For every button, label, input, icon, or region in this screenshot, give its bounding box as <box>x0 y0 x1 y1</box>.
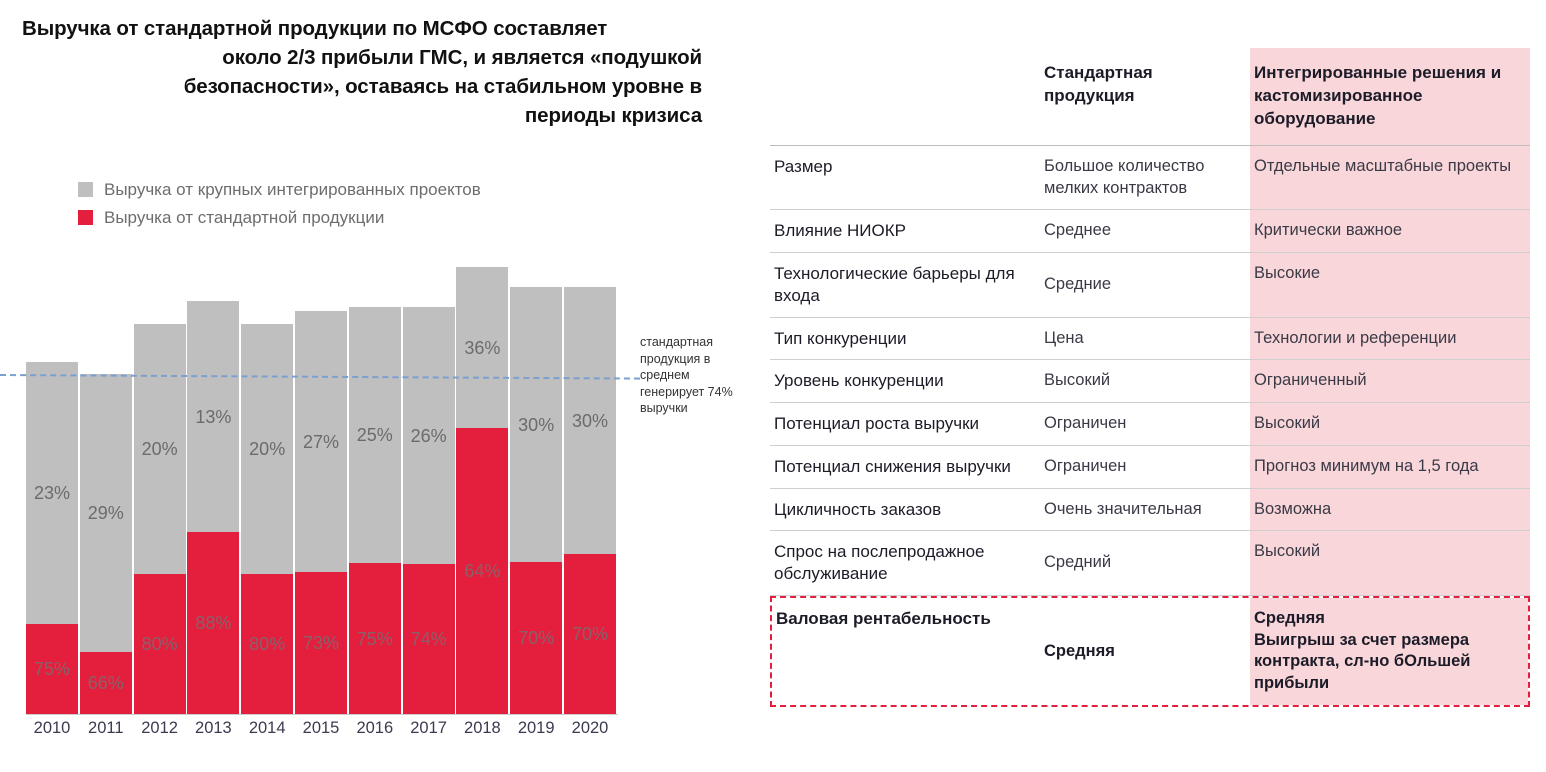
page-title-line: периоды кризиса <box>22 101 702 130</box>
bar-segment-integrated[interactable]: 20% <box>241 324 293 574</box>
page-title-line: безопасности», оставаясь на стабильном у… <box>22 72 702 101</box>
table-cell-value: Среднее <box>1044 220 1111 242</box>
bar-segment-standard[interactable]: 74% <box>403 564 455 714</box>
bar-segment-value: 70% <box>572 625 608 643</box>
bar-column[interactable]: 29%66% <box>80 374 132 714</box>
table-row-label: Размер <box>774 156 1032 178</box>
bar-segment-value: 73% <box>303 634 339 652</box>
chart-plot-area: 23%75%29%66%20%80%13%88%20%80%27%73%25%7… <box>26 252 616 714</box>
bar-segment-standard[interactable]: 66% <box>80 652 132 714</box>
table-cell-integrated: Отдельные масштабные проекты <box>1250 146 1530 210</box>
bar-segment-value: 36% <box>464 339 500 357</box>
table-header-text: Интегрированные решения и кастомизирован… <box>1254 62 1522 131</box>
table-cell-value: Средние <box>1044 274 1111 296</box>
table-cell-integrated: Высокие <box>1250 253 1530 317</box>
legend-item-label: Выручка от крупных интегрированных проек… <box>104 181 481 198</box>
revenue-stacked-bar-chart: 23%75%29%66%20%80%13%88%20%80%27%73%25%7… <box>0 252 640 752</box>
bar-segment-integrated[interactable]: 26% <box>403 307 455 564</box>
table-cell-integrated: Технологии и референции <box>1250 318 1530 360</box>
table-cell-integrated: Высокий <box>1250 531 1530 595</box>
table-cell-value: Высокий <box>1044 370 1110 392</box>
table-cell-value: Возможна <box>1254 499 1522 521</box>
bar-segment-integrated[interactable]: 20% <box>134 324 186 574</box>
table-row-label: Потенциал снижения выручки <box>774 456 1032 478</box>
table-cell-value: Средняя Выигрыш за счет размера контракт… <box>1254 608 1520 695</box>
bar-segment-standard[interactable]: 64% <box>456 428 508 714</box>
table-cell-attribute: Тип конкуренции <box>770 318 1040 360</box>
x-axis-tick: 2020 <box>564 720 616 737</box>
table-cell-standard: Ограничен <box>1040 403 1250 445</box>
page-title: Выручка от стандартной продукции по МСФО… <box>22 14 702 130</box>
table-cell-integrated: Возможна <box>1250 489 1530 531</box>
bar-segment-standard[interactable]: 75% <box>349 563 401 714</box>
table-header-text: Стандартная продукция <box>1044 62 1242 108</box>
x-axis-line <box>26 714 618 715</box>
x-axis-tick: 2010 <box>26 720 78 737</box>
bar-segment-integrated[interactable]: 36% <box>456 267 508 428</box>
x-axis-tick: 2017 <box>403 720 455 737</box>
table-row-label: Валовая рентабельность <box>776 608 1032 630</box>
table-cell-standard: Средняя <box>1040 598 1250 705</box>
table-cell-standard: Ограничен <box>1040 446 1250 488</box>
table-cell-standard: Среднее <box>1040 210 1250 252</box>
bar-segment-standard[interactable]: 80% <box>241 574 293 714</box>
bar-segment-value: 29% <box>88 504 124 522</box>
table-row-label: Цикличность заказов <box>774 499 1032 521</box>
page-title-line: около 2/3 прибыли ГМС, и является «подуш… <box>22 43 702 72</box>
bar-column[interactable]: 26%74% <box>403 307 455 714</box>
x-axis-tick-labels: 2010201120122013201420152016201720182019… <box>26 720 616 750</box>
table-cell-value: Высокий <box>1254 541 1522 563</box>
table-cell-attribute: Потенциал роста выручки <box>770 403 1040 445</box>
table-row[interactable]: Потенциал снижения выручкиОграниченПрогн… <box>770 446 1530 489</box>
bar-segment-integrated[interactable]: 30% <box>564 287 616 554</box>
legend-item-label: Выручка от стандартной продукции <box>104 209 384 226</box>
table-cell-value: Отдельные масштабные проекты <box>1254 156 1522 178</box>
bar-segment-value: 88% <box>195 614 231 632</box>
table-cell-attribute: Потенциал снижения выручки <box>770 446 1040 488</box>
table-row[interactable]: Валовая рентабельностьСредняяСредняя Выи… <box>770 596 1530 707</box>
legend-swatch-icon <box>78 210 93 225</box>
table-cell-value: Очень значительная <box>1044 499 1202 521</box>
table-cell-value: Технологии и референции <box>1254 328 1522 350</box>
table-header-row: Стандартная продукцияИнтегрированные реш… <box>770 48 1530 146</box>
x-axis-tick: 2011 <box>80 720 132 737</box>
table-cell-standard: Большое количество мелких контрактов <box>1040 146 1250 210</box>
x-axis-tick: 2014 <box>241 720 293 737</box>
bar-segment-integrated[interactable]: 25% <box>349 307 401 563</box>
x-axis-tick: 2015 <box>295 720 347 737</box>
table-cell-value: Критически важное <box>1254 220 1522 242</box>
average-annotation-text: стандартная продукция в среднем генериру… <box>640 334 744 417</box>
table-cell-attribute: Влияние НИОКР <box>770 210 1040 252</box>
bar-segment-value: 80% <box>249 635 285 653</box>
table-row[interactable]: Цикличность заказовОчень значительнаяВоз… <box>770 489 1530 532</box>
bar-column[interactable]: 30%70% <box>510 287 562 714</box>
table-row[interactable]: Потенциал роста выручкиОграниченВысокий <box>770 403 1530 446</box>
bar-segment-value: 30% <box>518 416 554 434</box>
bar-column[interactable]: 36%64% <box>456 267 508 714</box>
bar-column[interactable]: 27%73% <box>295 311 347 714</box>
table-row-label: Технологические барьеры для входа <box>774 263 1032 307</box>
table-cell-standard: Очень значительная <box>1040 489 1250 531</box>
legend-item[interactable]: Выручка от стандартной продукции <box>78 209 481 226</box>
bar-segment-value: 66% <box>88 674 124 692</box>
table-cell-value: Высокие <box>1254 263 1522 285</box>
bar-segment-integrated[interactable]: 30% <box>510 287 562 562</box>
table-cell-integrated: Прогноз минимум на 1,5 года <box>1250 446 1530 488</box>
bar-segment-standard[interactable]: 70% <box>510 562 562 714</box>
table-row[interactable]: РазмерБольшое количество мелких контракт… <box>770 146 1530 211</box>
table-cell-integrated: Средняя Выигрыш за счет размера контракт… <box>1250 598 1528 705</box>
table-cell-standard: Цена <box>1040 318 1250 360</box>
table-row[interactable]: Технологические барьеры для входаСредние… <box>770 253 1530 318</box>
table-cell-value: Средняя <box>1044 641 1115 663</box>
table-row[interactable]: Тип конкуренцииЦенаТехнологии и референц… <box>770 318 1530 361</box>
table-header-cell-standard: Стандартная продукция <box>1040 48 1250 145</box>
table-cell-standard: Средние <box>1040 253 1250 317</box>
table-row-label: Влияние НИОКР <box>774 220 1032 242</box>
table-row-label: Уровень конкуренции <box>774 370 1032 392</box>
table-row[interactable]: Влияние НИОКРСреднееКритически важное <box>770 210 1530 253</box>
table-header-cell-attribute <box>770 48 1040 145</box>
table-row[interactable]: Спрос на послепродажное обслуживаниеСред… <box>770 531 1530 596</box>
table-cell-value: Ограничен <box>1044 456 1126 478</box>
table-cell-attribute: Валовая рентабельность <box>772 598 1040 705</box>
bar-segment-value: 26% <box>411 427 447 445</box>
table-cell-value: Ограничен <box>1044 413 1126 435</box>
bar-segment-value: 20% <box>142 440 178 458</box>
bar-segment-value: 75% <box>357 630 393 648</box>
bar-segment-integrated[interactable]: 23% <box>26 362 78 624</box>
x-axis-tick: 2012 <box>134 720 186 737</box>
table-cell-value: Большое количество мелких контрактов <box>1044 156 1242 200</box>
bar-segment-value: 80% <box>142 635 178 653</box>
legend-swatch-icon <box>78 182 93 197</box>
bar-segment-value: 13% <box>195 408 231 426</box>
table-row[interactable]: Уровень конкуренцииВысокийОграниченный <box>770 360 1530 403</box>
bar-segment-value: 74% <box>411 630 447 648</box>
bar-segment-value: 23% <box>34 484 70 502</box>
table-cell-value: Ограниченный <box>1254 370 1522 392</box>
bar-segment-value: 30% <box>572 412 608 430</box>
table-cell-value: Цена <box>1044 328 1084 350</box>
bar-segment-integrated[interactable]: 29% <box>80 374 132 652</box>
bar-segment-value: 25% <box>357 426 393 444</box>
bar-segment-value: 27% <box>303 433 339 451</box>
bar-segment-integrated[interactable]: 27% <box>295 311 347 572</box>
slide-root: Выручка от стандартной продукции по МСФО… <box>0 0 1546 772</box>
bar-column[interactable]: 13%88% <box>187 301 239 714</box>
table-cell-value: Прогноз минимум на 1,5 года <box>1254 456 1522 478</box>
x-axis-tick: 2019 <box>510 720 562 737</box>
table-row-label: Тип конкуренции <box>774 328 1032 350</box>
x-axis-tick: 2016 <box>349 720 401 737</box>
legend-item[interactable]: Выручка от крупных интегрированных проек… <box>78 181 481 198</box>
bar-segment-standard[interactable]: 73% <box>295 572 347 714</box>
table-cell-attribute: Спрос на послепродажное обслуживание <box>770 531 1040 595</box>
chart-legend: Выручка от крупных интегрированных проек… <box>78 181 481 237</box>
bar-segment-value: 20% <box>249 440 285 458</box>
table-cell-value: Высокий <box>1254 413 1522 435</box>
table-cell-value: Средний <box>1044 552 1111 574</box>
bar-segment-value: 64% <box>464 562 500 580</box>
table-row-label: Потенциал роста выручки <box>774 413 1032 435</box>
table-cell-integrated: Критически важное <box>1250 210 1530 252</box>
bar-segment-standard[interactable]: 70% <box>564 554 616 714</box>
x-axis-tick: 2013 <box>187 720 239 737</box>
bar-segment-value: 70% <box>518 629 554 647</box>
table-cell-attribute: Технологические барьеры для входа <box>770 253 1040 317</box>
bar-segment-standard[interactable]: 75% <box>26 624 78 714</box>
table-cell-attribute: Уровень конкуренции <box>770 360 1040 402</box>
table-cell-integrated: Высокий <box>1250 403 1530 445</box>
bar-column[interactable]: 23%75% <box>26 362 78 714</box>
table-cell-integrated: Ограниченный <box>1250 360 1530 402</box>
table-cell-standard: Средний <box>1040 531 1250 595</box>
table-cell-standard: Высокий <box>1040 360 1250 402</box>
table-row-label: Спрос на послепродажное обслуживание <box>774 541 1032 585</box>
page-title-line: Выручка от стандартной продукции по МСФО… <box>22 14 702 43</box>
bar-segment-standard[interactable]: 80% <box>134 574 186 714</box>
table-cell-attribute: Цикличность заказов <box>770 489 1040 531</box>
table-cell-attribute: Размер <box>770 146 1040 210</box>
bar-segment-value: 75% <box>34 660 70 678</box>
bar-column[interactable]: 25%75% <box>349 307 401 714</box>
x-axis-tick: 2018 <box>456 720 508 737</box>
bar-column[interactable]: 20%80% <box>241 324 293 714</box>
bar-column[interactable]: 30%70% <box>564 287 616 714</box>
bar-segment-standard[interactable]: 88% <box>187 532 239 714</box>
comparison-table: Стандартная продукцияИнтегрированные реш… <box>770 48 1530 707</box>
bar-segment-integrated[interactable]: 13% <box>187 301 239 532</box>
bar-column[interactable]: 20%80% <box>134 324 186 714</box>
table-header-cell-integrated: Интегрированные решения и кастомизирован… <box>1250 48 1530 145</box>
